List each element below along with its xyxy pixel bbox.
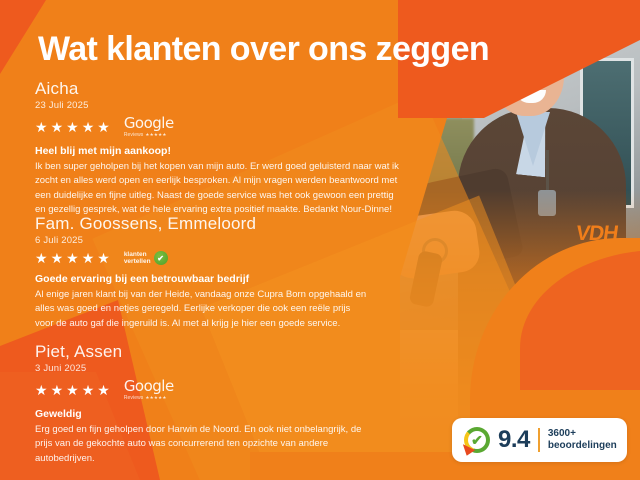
google-reviews-sub: Reviews ★★★★★ <box>124 395 167 401</box>
star-icon: ★ <box>66 120 79 134</box>
review-meta: ★ ★ ★ ★ ★ klanten vertellen ✔ <box>35 251 370 266</box>
review-body: Ik ben super geholpen bij het kopen van … <box>35 160 400 218</box>
google-reviews-logo: Google Reviews ★★★★★ <box>124 116 174 138</box>
review-title: Goede ervaring bij een betrouwbaar bedri… <box>35 273 370 285</box>
review-date: 6 Juli 2025 <box>35 235 370 246</box>
rating-count-block: 3600+ beoordelingen <box>548 428 617 452</box>
review-author: Piet, Assen <box>35 343 370 362</box>
review-date: 23 Juli 2025 <box>35 100 400 111</box>
star-icon: ★ <box>97 120 110 134</box>
star-icon: ★ <box>82 383 95 397</box>
review-card: Piet, Assen 3 Juni 2025 ★ ★ ★ ★ ★ Google… <box>35 343 370 466</box>
star-icon: ★ <box>97 383 110 397</box>
star-rating: ★ ★ ★ ★ ★ <box>35 120 110 134</box>
klantenvertellen-line-1: klanten <box>124 251 151 258</box>
poster-content: Wat klanten over ons zeggen Aicha 23 Jul… <box>0 0 640 480</box>
review-card: Aicha 23 Juli 2025 ★ ★ ★ ★ ★ Google Revi… <box>35 80 400 217</box>
star-icon: ★ <box>97 251 110 265</box>
review-meta: ★ ★ ★ ★ ★ Google Reviews ★★★★★ <box>35 116 400 138</box>
google-reviews-logo: Google Reviews ★★★★★ <box>124 379 174 401</box>
review-card: Fam. Goossens, Emmeloord 6 Juli 2025 ★ ★… <box>35 215 370 331</box>
star-rating: ★ ★ ★ ★ ★ <box>35 383 110 397</box>
star-rating: ★ ★ ★ ★ ★ <box>35 251 110 265</box>
poster-stage: VDH Wat klanten over ons zeggen Aicha 23… <box>0 0 640 480</box>
rating-badge[interactable]: ✔ 9.4 3600+ beoordelingen <box>452 418 627 462</box>
review-body: Al enige jaren klant bij van der Heide, … <box>35 288 370 331</box>
star-icon: ★ <box>35 120 48 134</box>
klantenvertellen-logo: klanten vertellen ✔ <box>124 251 168 266</box>
google-wordmark: Google <box>124 116 174 131</box>
review-author: Aicha <box>35 80 400 99</box>
star-icon: ★ <box>51 251 64 265</box>
google-reviews-stars-icon: ★★★★★ <box>145 395 166 401</box>
google-wordmark: Google <box>124 379 174 394</box>
google-reviews-label: Reviews <box>124 395 144 401</box>
review-date: 3 Juni 2025 <box>35 363 370 374</box>
review-meta: ★ ★ ★ ★ ★ Google Reviews ★★★★★ <box>35 379 370 401</box>
check-badge-icon: ✔ <box>154 251 168 265</box>
rating-count: 3600+ <box>548 428 617 440</box>
star-icon: ★ <box>35 383 48 397</box>
google-reviews-label: Reviews <box>124 132 144 138</box>
rating-score: 9.4 <box>498 426 530 454</box>
review-body: Erg goed en fijn geholpen door Harwin de… <box>35 423 370 466</box>
review-author: Fam. Goossens, Emmeloord <box>35 215 370 234</box>
rating-count-label: beoordelingen <box>548 440 617 452</box>
klantenvertellen-wordmark: klanten vertellen <box>124 251 151 266</box>
page-title: Wat klanten over ons zeggen <box>38 32 489 66</box>
star-icon: ★ <box>82 251 95 265</box>
star-icon: ★ <box>35 251 48 265</box>
badge-divider <box>538 428 540 452</box>
review-title: Geweldig <box>35 408 370 420</box>
klantenvertellen-check-icon: ✔ <box>464 427 490 453</box>
star-icon: ★ <box>82 120 95 134</box>
star-icon: ★ <box>51 383 64 397</box>
klantenvertellen-line-2: vertellen <box>124 258 151 265</box>
star-icon: ★ <box>66 251 79 265</box>
star-icon: ★ <box>51 120 64 134</box>
google-reviews-sub: Reviews ★★★★★ <box>124 132 167 138</box>
review-title: Heel blij met mijn aankoop! <box>35 145 400 157</box>
google-reviews-stars-icon: ★★★★★ <box>145 132 166 138</box>
star-icon: ★ <box>66 383 79 397</box>
